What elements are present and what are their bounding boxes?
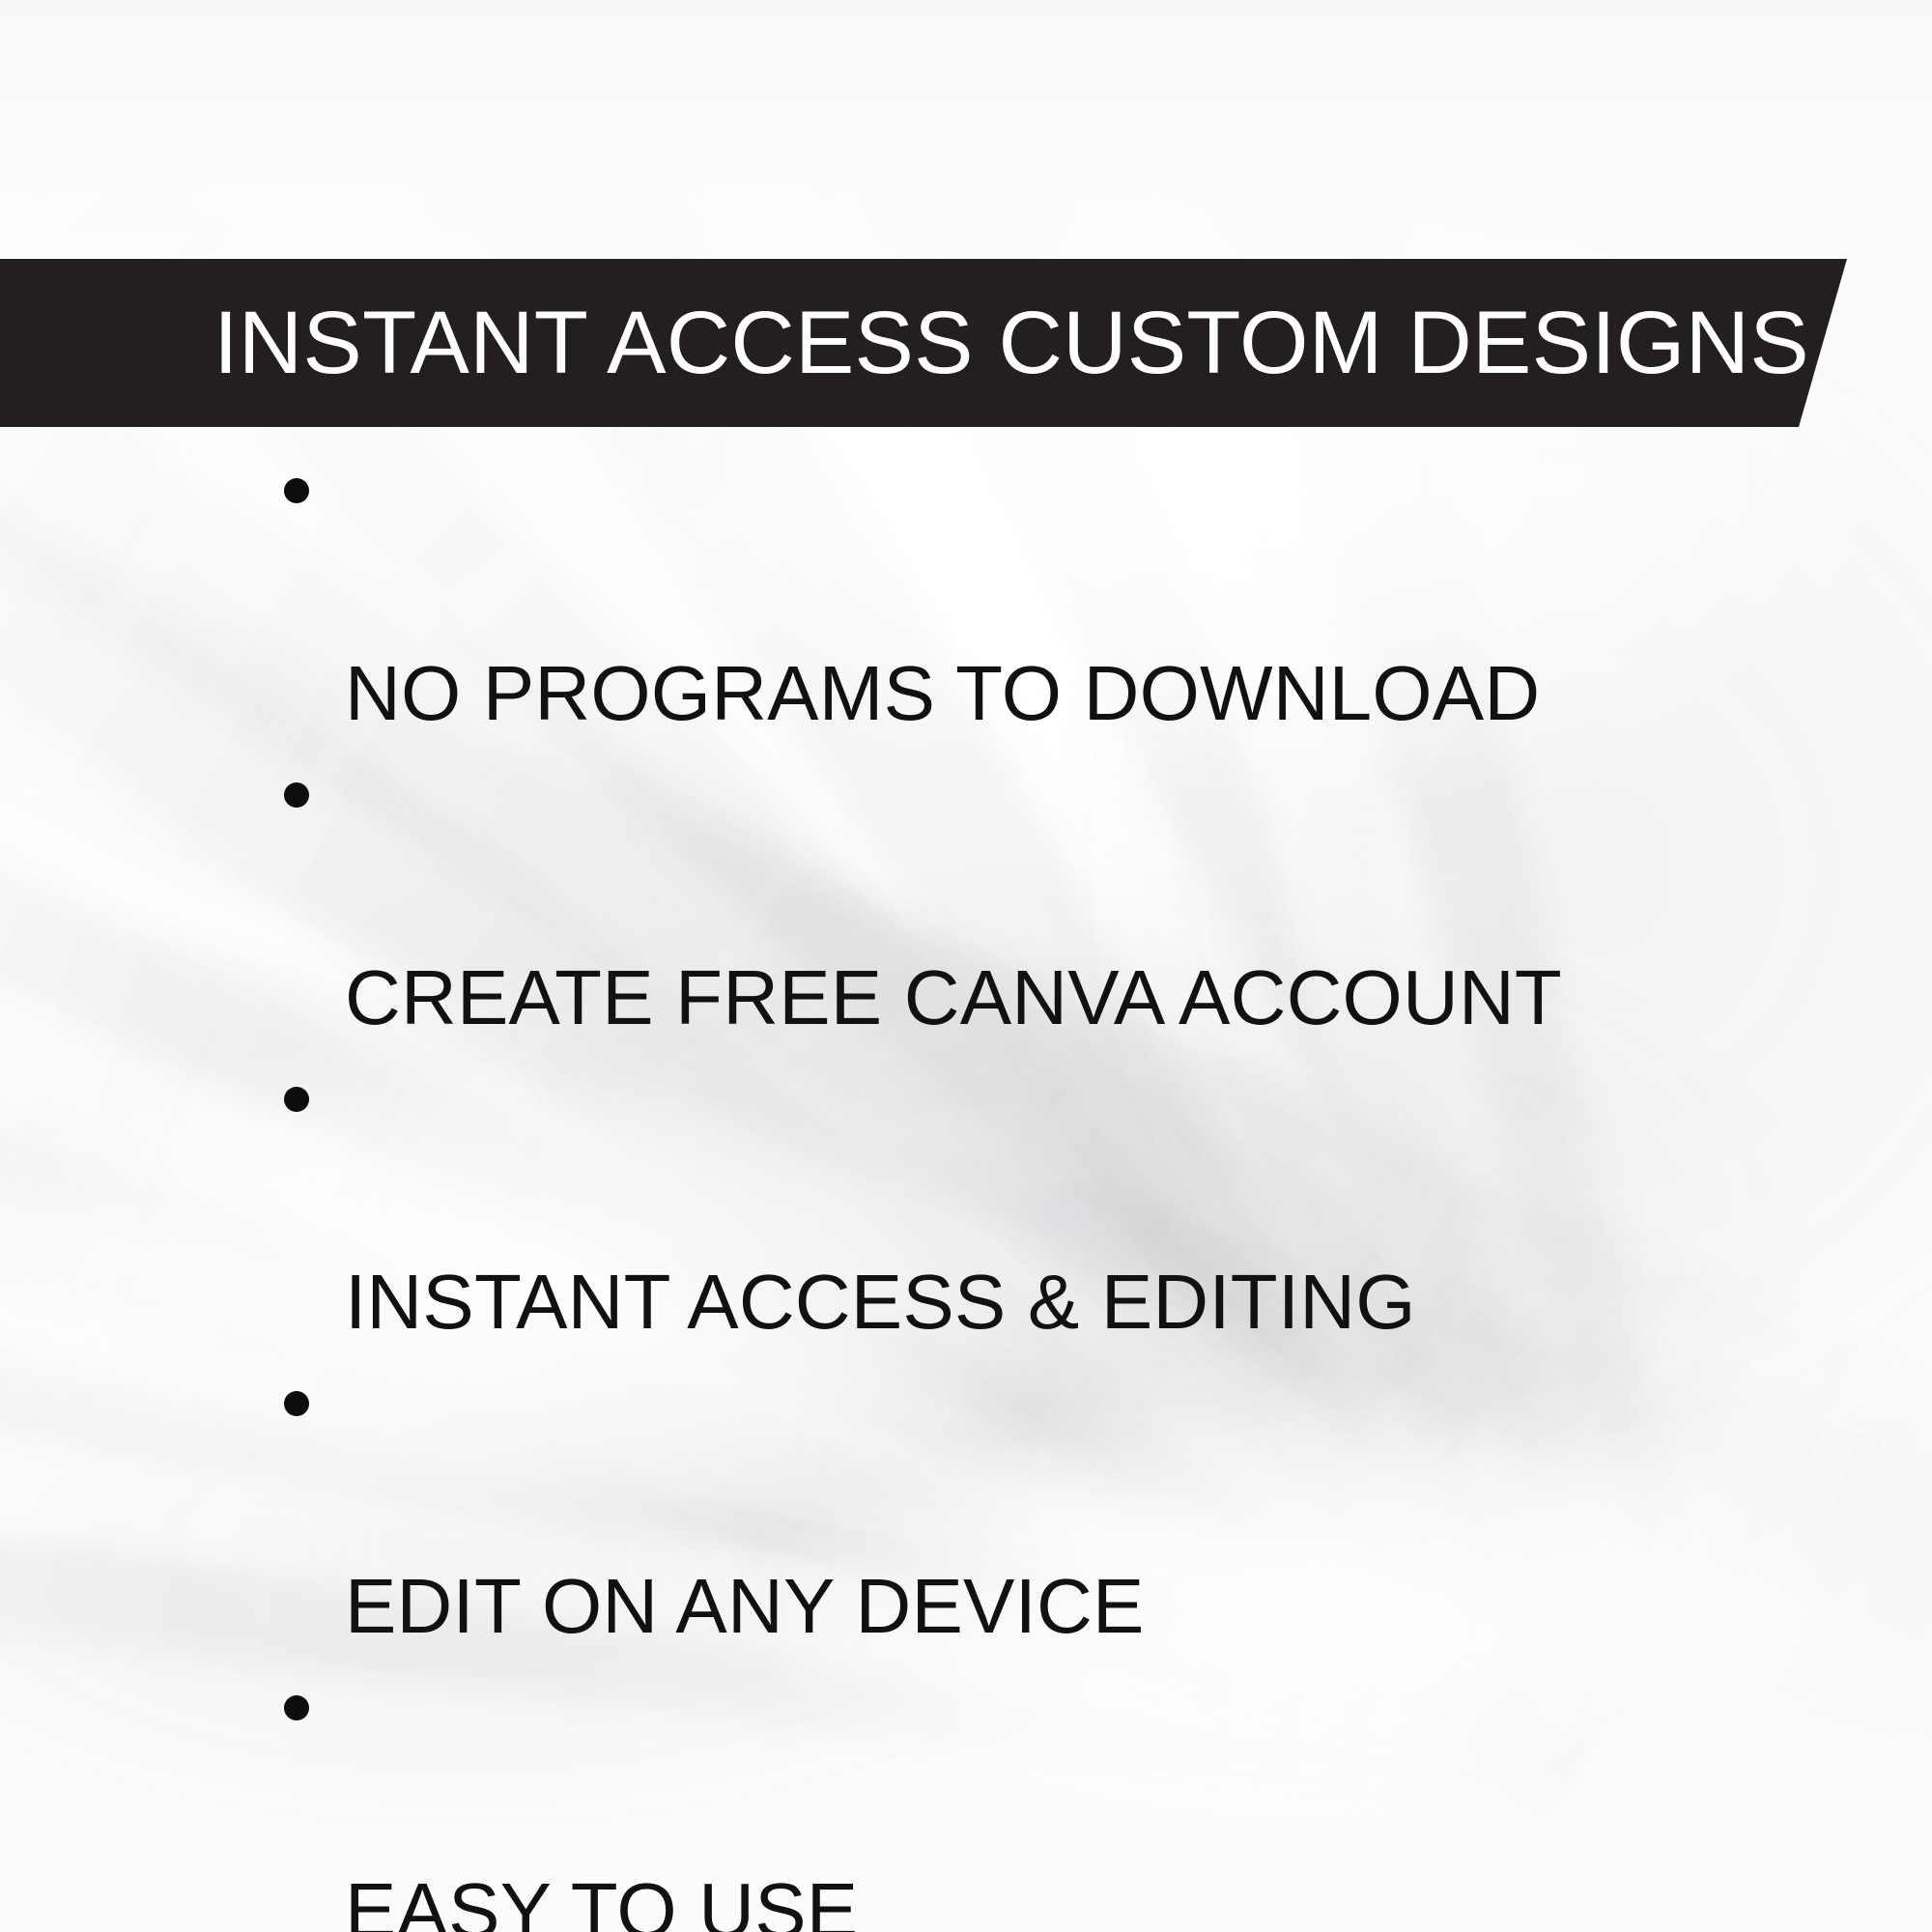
page-title: INSTANT ACCESS CUSTOM DESIGNS <box>213 298 1809 387</box>
list-item-label: NO PROGRAMS TO DOWNLOAD <box>345 650 1540 736</box>
list-item-label: INSTANT ACCESS & EDITING <box>345 1259 1416 1345</box>
title-banner: INSTANT ACCESS CUSTOM DESIGNS <box>0 259 1855 427</box>
bullet-dot-icon <box>284 1087 309 1112</box>
list-item: NO PROGRAMS TO DOWNLOAD <box>0 440 1932 744</box>
list-item: EDIT ON ANY DEVICE <box>0 1352 1932 1657</box>
list-item-label: EDIT ON ANY DEVICE <box>345 1563 1145 1649</box>
bullet-dot-icon <box>284 782 309 808</box>
list-item-label: EASY TO USE <box>345 1867 858 1932</box>
list-item: INSTANT ACCESS & EDITING <box>0 1048 1932 1352</box>
list-item: EASY TO USE <box>0 1657 1932 1932</box>
bullet-dot-icon <box>284 478 309 503</box>
bullet-dot-icon <box>284 1695 309 1720</box>
list-item-label: CREATE FREE CANVA ACCOUNT <box>345 954 1562 1040</box>
list-item: CREATE FREE CANVA ACCOUNT <box>0 744 1932 1048</box>
bullet-dot-icon <box>284 1391 309 1416</box>
top-light-wash <box>0 0 1932 290</box>
feature-list: NO PROGRAMS TO DOWNLOAD CREATE FREE CANV… <box>0 440 1932 1932</box>
promo-graphic-canvas: INSTANT ACCESS CUSTOM DESIGNS NO PROGRAM… <box>0 0 1932 1932</box>
